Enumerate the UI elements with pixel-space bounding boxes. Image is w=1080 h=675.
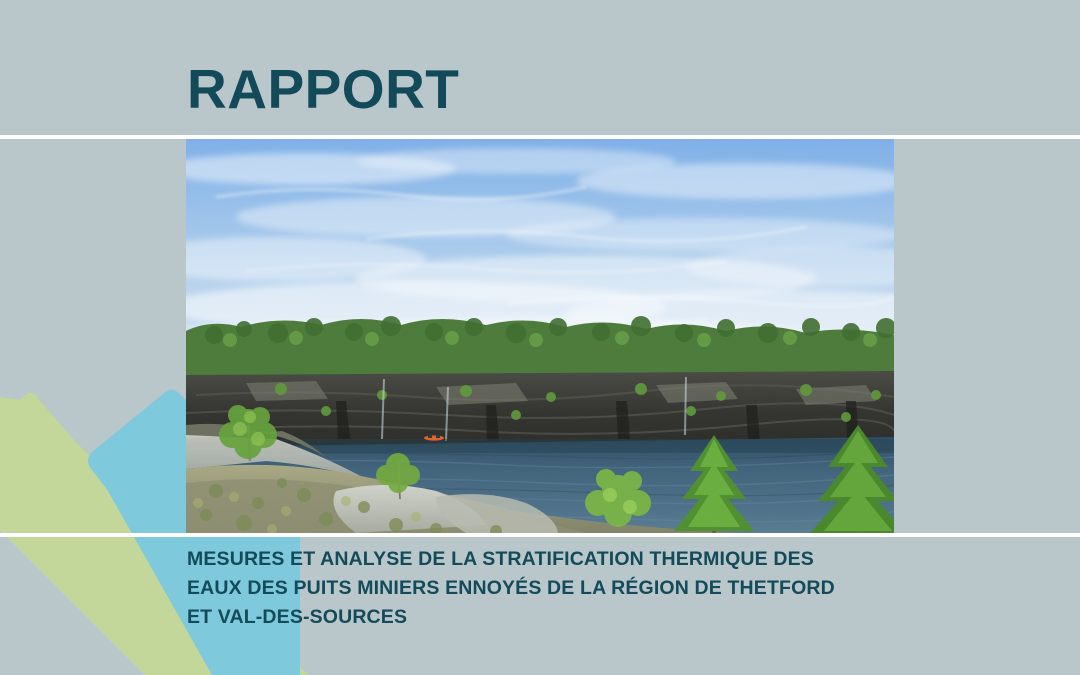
cover-photo-illustration xyxy=(186,139,894,533)
divider-top xyxy=(0,135,1080,139)
report-subtitle-line-3: ET VAL-DES-SOURCES xyxy=(187,603,927,632)
report-subtitle-line-2: EAUX DES PUITS MINIERS ENNOYÉS DE LA RÉG… xyxy=(187,574,927,603)
divider-bottom xyxy=(0,533,1080,537)
page-title: RAPPORT xyxy=(187,62,459,117)
report-subtitle: MESURES ET ANALYSE DE LA STRATIFICATION … xyxy=(187,545,927,632)
report-subtitle-line-1: MESURES ET ANALYSE DE LA STRATIFICATION … xyxy=(187,545,927,574)
cover-photo xyxy=(186,139,894,533)
